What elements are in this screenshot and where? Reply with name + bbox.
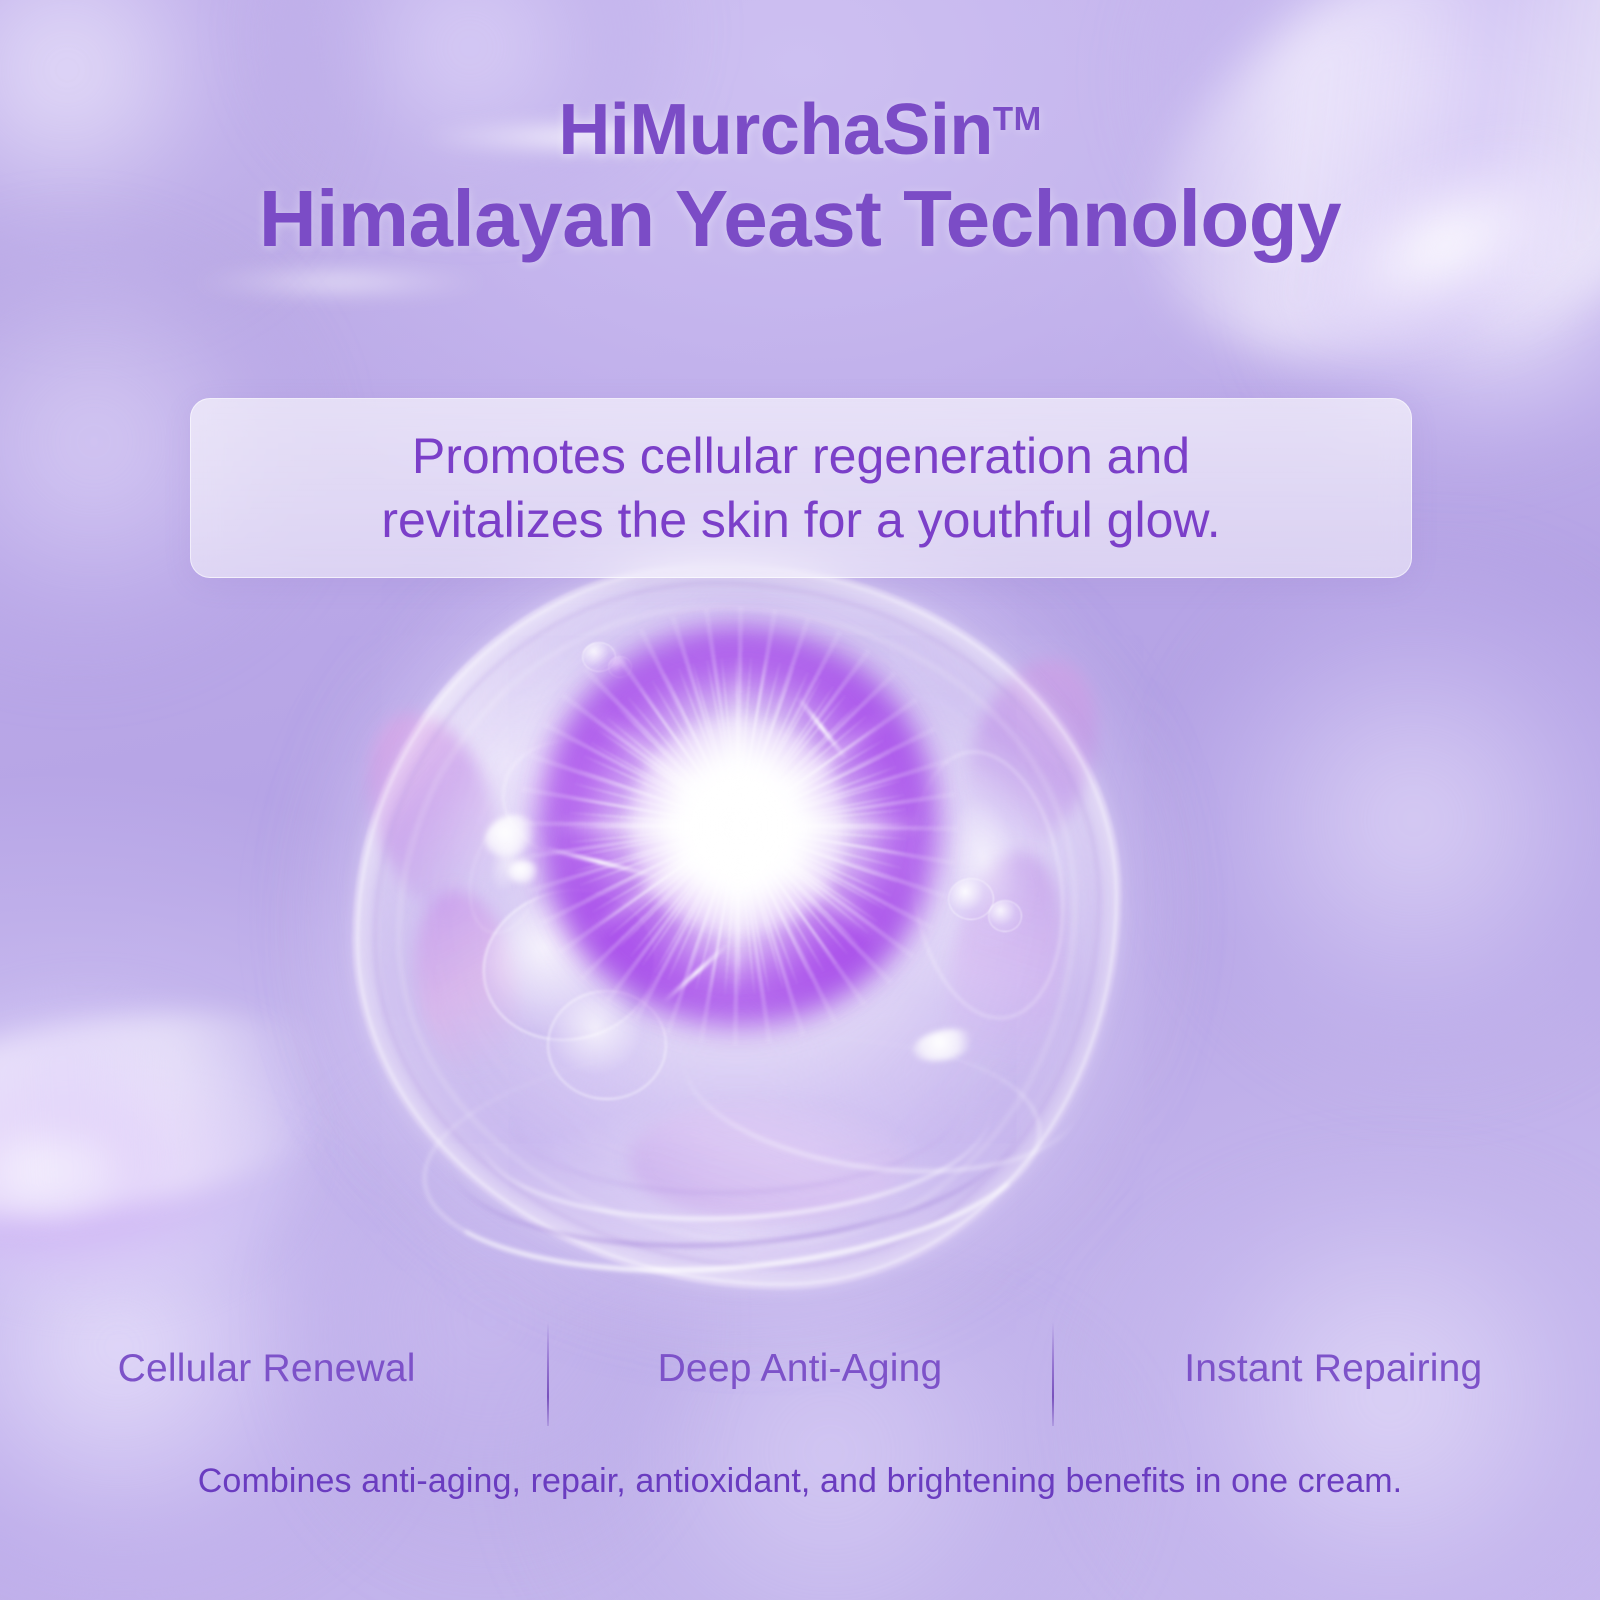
subtitle-line-1: Promotes cellular regeneration and — [412, 428, 1190, 484]
feature-divider — [1052, 1322, 1054, 1426]
subtitle-line-2: revitalizes the skin for a youthful glow… — [381, 492, 1220, 548]
feature-item-instant-repairing: Instant Repairing — [1067, 1349, 1600, 1388]
product-hero-poster: HiMurchaSinTM Himalayan Yeast Technology… — [0, 0, 1600, 1600]
feature-row: Cellular Renewal Deep Anti-Aging Instant… — [0, 1318, 1600, 1418]
headline-block: HiMurchaSinTM Himalayan Yeast Technology — [0, 92, 1600, 262]
feature-item-deep-anti-aging: Deep Anti-Aging — [533, 1349, 1066, 1388]
page-title: HiMurchaSinTM — [0, 92, 1600, 170]
page-subtitle-heading: Himalayan Yeast Technology — [0, 176, 1600, 262]
trademark-icon: TM — [993, 101, 1042, 138]
footer-caption: Combines anti-aging, repair, antioxidant… — [0, 1462, 1600, 1501]
content-layer: HiMurchaSinTM Himalayan Yeast Technology… — [0, 0, 1600, 1600]
feature-item-cellular-renewal: Cellular Renewal — [0, 1349, 533, 1388]
feature-divider — [547, 1322, 549, 1426]
brand-name: HiMurchaSin — [558, 90, 993, 170]
subtitle-card: Promotes cellular regeneration and revit… — [190, 398, 1412, 578]
subtitle-text: Promotes cellular regeneration and revit… — [351, 424, 1250, 552]
